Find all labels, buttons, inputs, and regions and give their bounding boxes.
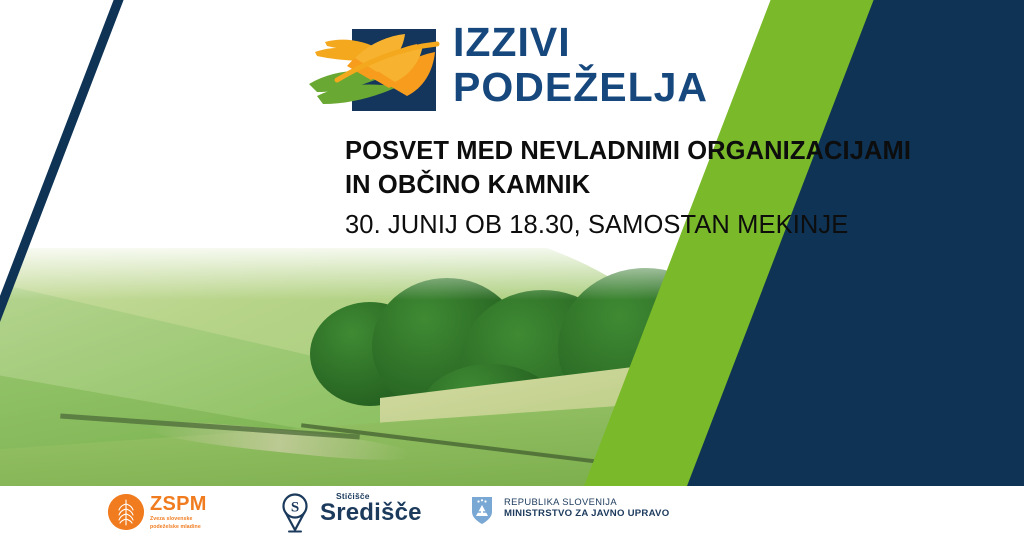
partner-logo-sredisce: S Stičišče Središče [278,488,458,536]
logo-line-2: PODEŽELJA [453,67,708,108]
title-line-2: IN OBČINO KAMNIK [345,168,965,202]
event-title-block: POSVET MED NEVLADNIMI ORGANIZACIJAMI IN … [345,134,965,242]
sredisce-name: Središče [320,501,422,525]
zspm-subtitle-2: podeželske mladine [150,524,207,530]
wheat-ear-icon [303,22,443,114]
location-pin-s-icon: S [278,492,312,534]
ministrstvo-line-2: MINISTRSTVO ZA JAVNO UPRAVO [504,508,669,520]
partner-logo-ministrstvo: REPUBLIKA SLOVENIJA MINISTRSTVO ZA JAVNO… [470,494,700,530]
logo-line-1: IZZIVI [453,22,708,63]
ministrstvo-wordmark: REPUBLIKA SLOVENIJA MINISTRSTVO ZA JAVNO… [504,496,669,520]
svg-text:S: S [291,500,299,516]
event-poster: IZZIVI PODEŽELJA POSVET MED NEVLADNIMI O… [0,0,1024,538]
izzivi-podezelja-logo: IZZIVI PODEŽELJA [303,20,648,116]
wheat-circle-icon [108,494,144,530]
title-line-1: POSVET MED NEVLADNIMI ORGANIZACIJAMI [345,134,965,168]
partner-footer: ZSPM Zveza slovenske podeželske mladine … [0,486,1024,538]
zspm-subtitle-1: Zveza slovenske [150,516,207,522]
title-line-3-datetime: 30. JUNIJ OB 18.30, SAMOSTAN MEKINJE [345,208,965,242]
partner-logo-zspm: ZSPM Zveza slovenske podeželske mladine [108,492,258,534]
poster-canvas: IZZIVI PODEŽELJA POSVET MED NEVLADNIMI O… [0,0,1024,486]
ministrstvo-line-1: REPUBLIKA SLOVENIJA [504,496,669,508]
zspm-wordmark: ZSPM Zveza slovenske podeželske mladine [150,494,207,530]
logo-wordmark: IZZIVI PODEŽELJA [453,22,708,108]
partner-logo-row: ZSPM Zveza slovenske podeželske mladine … [108,486,708,538]
sredisce-wordmark: Stičišče Središče [320,492,422,525]
slovenia-coat-of-arms-icon [470,495,494,525]
zspm-name: ZSPM [150,494,207,514]
